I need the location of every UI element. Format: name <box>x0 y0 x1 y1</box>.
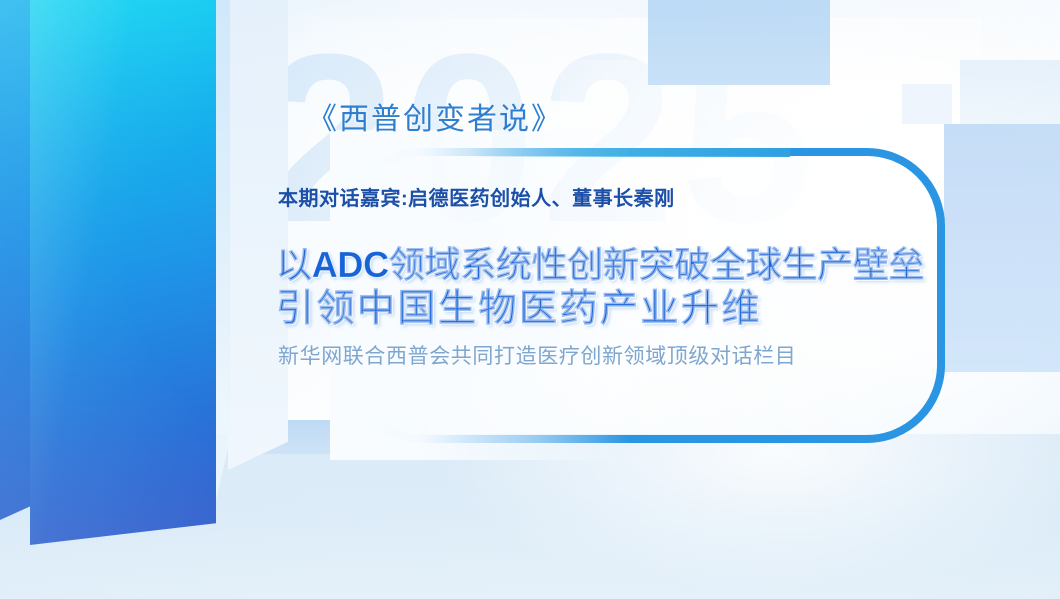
decor-block-right <box>944 124 1060 372</box>
wall-panel-front <box>30 0 216 545</box>
floor-highlight <box>430 434 1060 599</box>
headline-block: 以ADC领域系统性创新突破全球生产壁垒 引领中国生物医药产业升维 <box>276 243 936 331</box>
headline-line-1: 以ADC领域系统性创新突破全球生产壁垒 <box>276 243 936 287</box>
subtitle-line: 新华网联合西普会共同打造医疗创新领域顶级对话栏目 <box>278 343 796 371</box>
title-card-slide: 2025 《西普创变者说》 本期对话嘉宾:启德医药创始人、董事长秦刚 以ADC领… <box>0 0 1060 599</box>
wall-edge-highlight <box>216 0 230 500</box>
program-title: 《西普创变者说》 <box>0 103 1060 137</box>
decor-block-top <box>648 0 830 85</box>
guest-line: 本期对话嘉宾:启德医药创始人、董事长秦刚 <box>278 186 675 212</box>
headline-line-2: 引领中国生物医药产业升维 <box>276 287 936 331</box>
wall-panel-pale <box>228 0 288 470</box>
